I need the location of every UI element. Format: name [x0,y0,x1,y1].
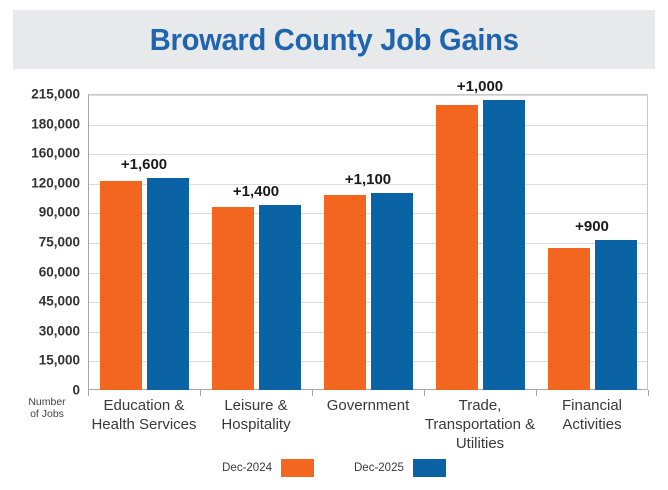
chart-legend: Dec-2024Dec-2025 [0,459,668,477]
bar-dec-2024 [436,105,478,390]
x-axis-category-line: Activities [521,415,663,434]
y-axis-title-line1: Number [8,396,86,408]
legend-label: Dec-2025 [354,462,404,474]
legend-label: Dec-2024 [222,462,272,474]
bar-dec-2024 [548,248,590,390]
y-axis-title-line2: of Jobs [8,408,86,420]
bar-dec-2025 [259,205,301,390]
y-axis-tick-label: 90,000 [0,205,80,220]
bar-value-label: +1,600 [121,156,167,173]
y-axis-tick-label: 45,000 [0,294,80,309]
bar-value-label: +1,000 [457,78,503,95]
x-axis-category-line: Utilities [409,434,551,453]
gridline [89,95,647,96]
bar-dec-2025 [483,100,525,390]
x-axis-category-label: FinancialActivities [521,396,663,434]
x-axis-category-line: Hospitality [185,415,327,434]
y-axis-tick-label: 160,000 [0,146,80,161]
legend-swatch [281,459,314,477]
bar-dec-2024 [100,181,142,390]
y-axis-tick-label: 215,000 [0,87,80,102]
bar-dec-2025 [371,193,413,390]
y-axis-title: Number of Jobs [8,396,86,420]
x-axis-category-line: Financial [521,396,663,415]
y-axis-tick-label: 15,000 [0,353,80,368]
y-axis-tick-label: 30,000 [0,323,80,338]
gridline [89,154,647,155]
y-axis-tick-label: 180,000 [0,116,80,131]
bar-value-label: +1,400 [233,183,279,200]
bar-dec-2025 [595,240,637,390]
legend-swatch [413,459,446,477]
bar-dec-2024 [324,195,366,390]
y-axis-tick-label: 60,000 [0,264,80,279]
legend-item[interactable]: Dec-2025 [354,459,446,477]
gridline [89,125,647,126]
y-axis-tick-label: 75,000 [0,235,80,250]
bar-value-label: +900 [575,218,609,235]
legend-item[interactable]: Dec-2024 [222,459,314,477]
bar-dec-2024 [212,207,254,390]
chart-container: 015,00030,00045,00060,00075,00090,000120… [0,0,668,490]
bar-value-label: +1,100 [345,171,391,188]
y-axis-tick-label: 120,000 [0,175,80,190]
bar-dec-2025 [147,178,189,390]
